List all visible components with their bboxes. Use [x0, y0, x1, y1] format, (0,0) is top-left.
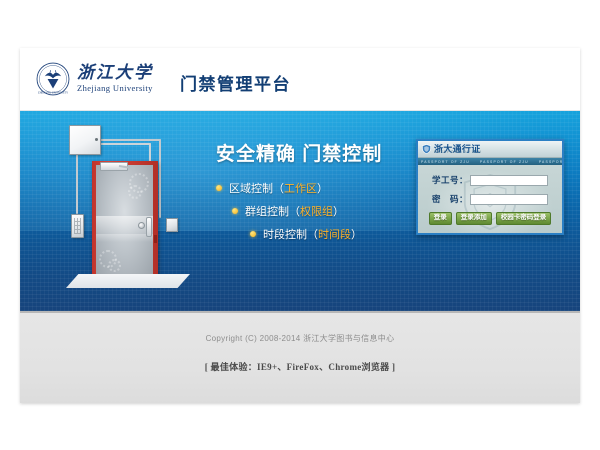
cable-horizontal-second: [99, 143, 151, 145]
access-control-door-illustration: [50, 119, 200, 305]
door-frame: [92, 161, 158, 279]
site-header: ZHEJIANG UNIVERSITY 浙江大学 Zhejiang Univer…: [20, 48, 580, 111]
door-handle: [146, 217, 152, 237]
student-staff-id-input[interactable]: [470, 175, 548, 186]
feature-label: 区域控制（: [229, 180, 284, 196]
login-add-button[interactable]: 登录添加: [456, 212, 492, 225]
password-input[interactable]: [470, 194, 548, 205]
feature-label: 时段控制（: [263, 226, 318, 242]
copyright-text: Copyright (C) 2008-2014 浙江大学图书与信息中心: [20, 333, 580, 344]
browser-support-note: [ 最佳体验：IE9+、FireFox、Chrome浏览器 ]: [20, 360, 580, 373]
login-form: 学工号： 密 码： 登录 登录添加 校园卡密码登录: [418, 165, 562, 235]
page-card: ZHEJIANG UNIVERSITY 浙江大学 Zhejiang Univer…: [20, 48, 580, 403]
hero-headline: 安全精确 门禁控制: [216, 139, 426, 166]
ribbon-text: PASSPORT OF ZJU: [421, 160, 470, 164]
form-row-password: 密 码：: [418, 193, 562, 205]
university-wordmark: 浙江大学 Zhejiang University: [77, 64, 153, 93]
ribbon-text: PASSPORT OF ZJU: [480, 160, 529, 164]
feature-accent: 时间段: [318, 226, 351, 242]
door-strike: [154, 235, 157, 243]
feature-accent: 工作区: [284, 180, 317, 196]
student-staff-id-label: 学工号：: [432, 174, 470, 186]
cable-vertical-right: [159, 139, 161, 218]
cable-vertical-left: [76, 153, 78, 214]
ribbon-text: PASSPORT OF ZJU: [539, 160, 562, 164]
feature-list: 区域控制（工作区） 群组控制（权限组） 时段控制（时间段）: [216, 180, 426, 242]
bullet-dot-icon: [250, 231, 256, 237]
password-label: 密 码：: [432, 193, 470, 205]
controller-box: [69, 125, 101, 155]
login-button-row: 登录 登录添加 校园卡密码登录: [418, 212, 562, 225]
cable-horizontal-top: [99, 139, 161, 141]
bullet-dot-icon: [232, 208, 238, 214]
feature-item-time-control: 时段控制（时间段）: [216, 226, 426, 242]
login-panel-ribbon: PASSPORT OF ZJU PASSPORT OF ZJU PASSPORT…: [418, 158, 562, 165]
bullet-dot-icon: [216, 185, 222, 191]
form-row-userid: 学工号：: [418, 174, 562, 186]
gear-decor-icon: [108, 259, 121, 272]
hero-banner: 安全精确 门禁控制 区域控制（工作区） 群组控制（权限组） 时段控制（时间段）: [20, 111, 580, 311]
university-name-cn: 浙江大学: [77, 64, 153, 82]
shield-icon: [422, 144, 431, 154]
gear-decor-icon: [128, 185, 142, 199]
campus-card-login-button[interactable]: 校园卡密码登录: [496, 212, 552, 225]
floor-plate: [66, 274, 190, 288]
university-logo[interactable]: ZHEJIANG UNIVERSITY 浙江大学 Zhejiang Univer…: [36, 62, 153, 96]
svg-text:ZHEJIANG UNIVERSITY: ZHEJIANG UNIVERSITY: [38, 91, 68, 94]
screenshot-root: ZHEJIANG UNIVERSITY 浙江大学 Zhejiang Univer…: [0, 0, 600, 450]
feature-accent: 权限组: [300, 203, 333, 219]
card-reader: [166, 218, 178, 232]
feature-label-end: ）: [317, 180, 328, 196]
site-footer: Copyright (C) 2008-2014 浙江大学图书与信息中心 [ 最佳…: [20, 311, 580, 403]
keypad-reader: [71, 214, 84, 238]
door-leaf: [96, 165, 153, 276]
platform-title: 门禁管理平台: [180, 70, 291, 95]
hero-copy: 安全精确 门禁控制 区域控制（工作区） 群组控制（权限组） 时段控制（时间段）: [216, 139, 426, 249]
feature-item-area-control: 区域控制（工作区）: [216, 180, 426, 196]
university-name-en: Zhejiang University: [77, 83, 153, 93]
login-panel-titlebar: 浙大通行证 PASSPORT OF ZJU: [418, 141, 562, 158]
zju-seal-icon: ZHEJIANG UNIVERSITY: [36, 62, 70, 96]
feature-label-end: ）: [333, 203, 344, 219]
door-lock-icon: [138, 222, 145, 229]
login-button[interactable]: 登录: [429, 212, 452, 225]
login-panel-subtitle: PASSPORT OF ZJU: [434, 151, 482, 155]
feature-label-end: ）: [351, 226, 362, 242]
feature-item-group-control: 群组控制（权限组）: [216, 203, 426, 219]
feature-label: 群组控制（: [245, 203, 300, 219]
login-panel: 浙大通行证 PASSPORT OF ZJU PASSPORT OF ZJU PA…: [416, 139, 564, 235]
